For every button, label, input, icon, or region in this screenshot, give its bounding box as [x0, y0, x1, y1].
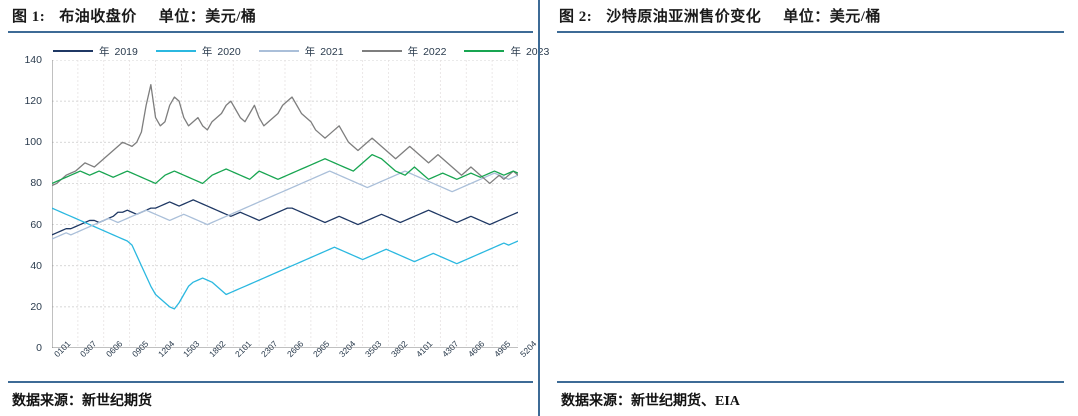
figure-1-panel: 图 1: 布油收盘价 单位：美元/桶 年2019年2020年2021年2022年…: [0, 0, 539, 416]
report-figures-page: 图 1: 布油收盘价 单位：美元/桶 年2019年2020年2021年2022年…: [0, 0, 1078, 416]
y-tick-label: 140: [24, 54, 42, 66]
y-tick-label: 120: [24, 95, 42, 107]
legend-swatch-icon: [464, 50, 504, 52]
y-tick-label: 80: [30, 177, 42, 189]
chart-1-legend: 年2019年2020年2021年2022年2023: [53, 40, 523, 62]
figure-1-unit: 单位：美元/桶: [159, 5, 257, 26]
series-line-2022: [52, 85, 518, 186]
figure-2-source: 数据来源：新世纪期货、EIA: [561, 386, 740, 414]
legend-item-2021[interactable]: 年2021: [259, 44, 344, 59]
figure-1-bottom-rule: [8, 381, 533, 383]
figure-2-bottom-rule: [557, 381, 1064, 383]
legend-item-2022[interactable]: 年2022: [362, 44, 447, 59]
legend-label: 年2022: [408, 44, 447, 59]
legend-swatch-icon: [362, 50, 402, 52]
figure-2-unit: 单位：美元/桶: [783, 5, 881, 26]
x-tick-label: 5204: [518, 339, 538, 359]
figure-2-title-text: 沙特原油亚洲售价变化: [606, 5, 761, 26]
legend-label: 年2020: [202, 44, 241, 59]
figure-2-number: 图 2:: [559, 5, 592, 26]
legend-swatch-icon: [156, 50, 196, 52]
figure-2-top-rule: [557, 31, 1064, 33]
figure-2-panel: 图 2: 沙特原油亚洲售价变化 单位：美元/桶 Saudi Arabia cha…: [539, 0, 1078, 416]
legend-swatch-icon: [259, 50, 299, 52]
chart-1-y-axis-labels: 020406080100120140: [8, 60, 48, 348]
legend-item-2023[interactable]: 年2023: [464, 44, 549, 59]
legend-label: 年2021: [305, 44, 344, 59]
y-tick-label: 60: [30, 219, 42, 231]
legend-swatch-icon: [53, 50, 93, 52]
y-tick-label: 100: [24, 136, 42, 148]
brent-close-price-chart: 年2019年2020年2021年2022年2023 02040608010012…: [8, 36, 528, 376]
chart-1-plot-area: [52, 60, 518, 348]
y-tick-label: 40: [30, 260, 42, 272]
y-tick-label: 0: [36, 342, 42, 354]
chart-1-x-axis-labels: 0101030706060905120415031802210123072606…: [52, 350, 518, 378]
figure-1-title: 图 1: 布油收盘价 单位：美元/桶: [0, 0, 539, 31]
figure-1-source: 数据来源：新世纪期货: [12, 386, 152, 414]
legend-item-2019[interactable]: 年2019: [53, 44, 138, 59]
legend-item-2020[interactable]: 年2020: [156, 44, 241, 59]
figure-2-title: 图 2: 沙特原油亚洲售价变化 单位：美元/桶: [539, 0, 1078, 31]
chart-1-svg: [52, 60, 518, 348]
figure-1-number: 图 1:: [12, 5, 45, 26]
figure-1-title-text: 布油收盘价: [59, 5, 137, 26]
y-tick-label: 20: [30, 301, 42, 313]
figure-1-top-rule: [8, 31, 533, 33]
legend-label: 年2019: [99, 44, 138, 59]
